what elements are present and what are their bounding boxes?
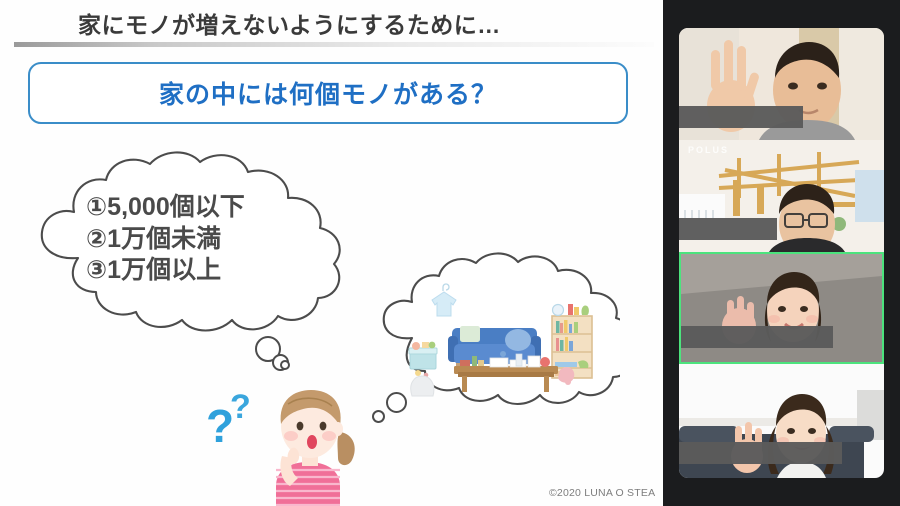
cluttered-room-illustration: [408, 278, 598, 398]
options-list: ①5,000個以下 ②1万個未満 ③1万個以上: [86, 192, 245, 287]
presentation-slide: 家にモノが増えないようにするために… 家の中には何個モノがある？ ①5,000個…: [0, 0, 663, 506]
video-tile[interactable]: POLUS: [679, 140, 884, 252]
video-tile-active-speaker[interactable]: [679, 252, 884, 364]
video-tile[interactable]: [679, 364, 884, 478]
thinking-woman-illustration: [258, 382, 370, 506]
participant-name-redaction: [681, 326, 833, 348]
thought-bubble-small: [280, 360, 290, 370]
toy-box-icon: [409, 342, 437, 378]
copyright-notice: ©2020 LUNA O STEA: [549, 487, 655, 499]
question-box: 家の中には何個モノがある？: [28, 62, 628, 124]
video-tile[interactable]: [679, 28, 884, 140]
participant-name-redaction: [679, 218, 777, 240]
title-divider: [14, 42, 654, 47]
question-text: 家の中には何個モノがある？: [159, 75, 497, 111]
thought-bubble-small: [372, 410, 385, 423]
svg-text:?: ?: [206, 400, 234, 450]
thought-bubble-small: [386, 392, 407, 413]
beanbag-icon: [411, 376, 434, 396]
video-participant-panel: POLUS: [663, 0, 900, 506]
participant-name-redaction: [679, 442, 842, 464]
screen: 家にモノが増えないようにするために… 家の中には何個モノがある？ ①5,000個…: [0, 0, 900, 506]
page-title: 家にモノが増えないようにするために…: [78, 6, 501, 40]
option-item-3: ③1万個以上: [86, 255, 245, 287]
participant-name-redaction: [679, 106, 803, 128]
polus-watermark-logo: POLUS: [688, 146, 729, 155]
option-item-1: ①5,000個以下: [86, 192, 245, 224]
hanging-shirt-icon: [432, 284, 456, 316]
option-item-2: ②1万個未満: [86, 224, 245, 256]
